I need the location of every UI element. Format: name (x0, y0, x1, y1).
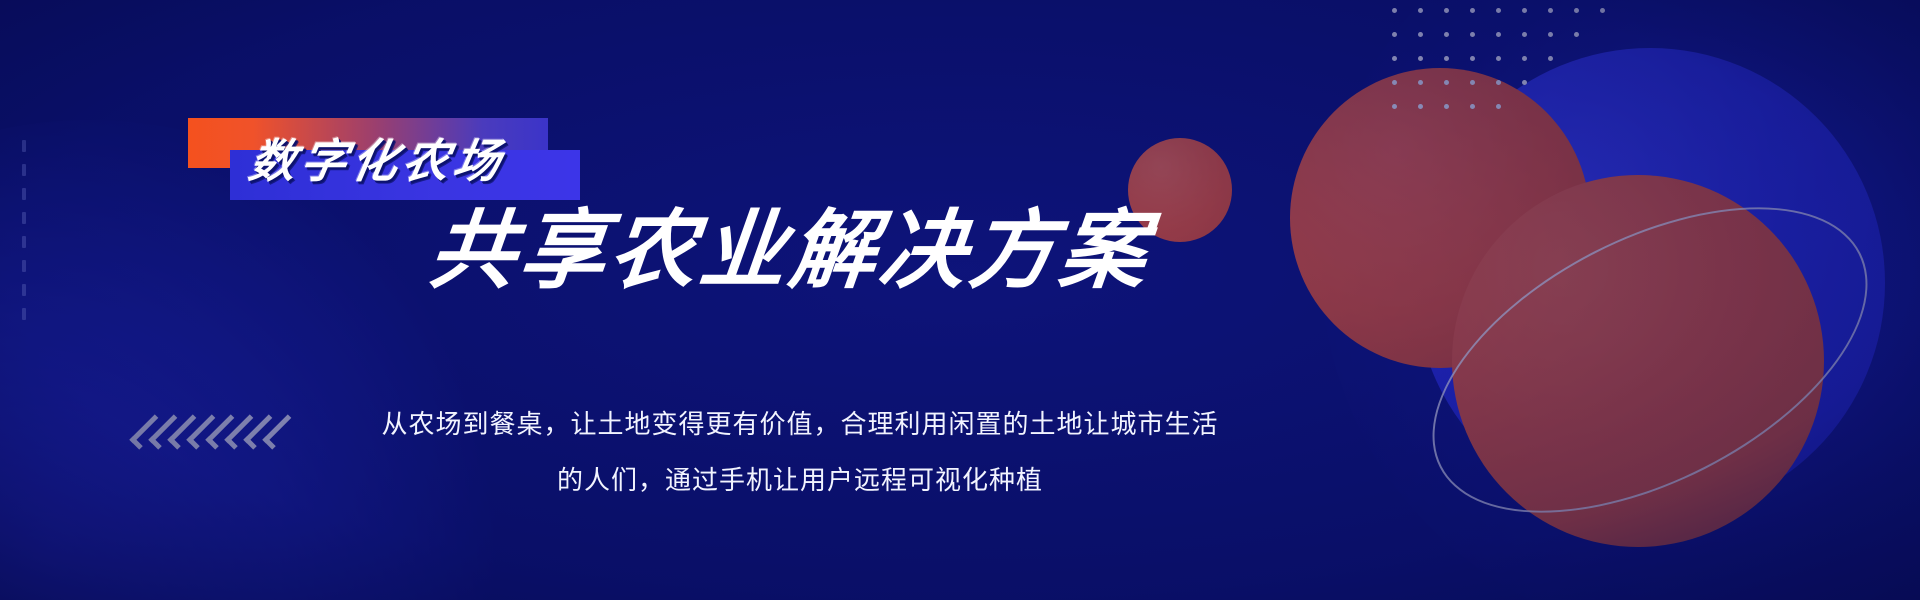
subtitle: 从农场到餐桌，让土地变得更有价值，合理利用闲置的土地让城市生活 的人们，通过手机… (300, 396, 1300, 508)
subtitle-line-1: 从农场到餐桌，让土地变得更有价值，合理利用闲置的土地让城市生活 (300, 396, 1300, 452)
banner-content: 数字化农场 共享农业解决方案 从农场到餐桌，让土地变得更有价值，合理利用闲置的土… (0, 0, 1920, 600)
promo-banner: 数字化农场 共享农业解决方案 从农场到餐桌，让土地变得更有价值，合理利用闲置的土… (0, 0, 1920, 600)
badge: 数字化农场 (188, 118, 580, 190)
page-title: 共享农业解决方案 (424, 196, 1196, 306)
badge-label: 数字化农场 (245, 132, 585, 190)
subtitle-line-2: 的人们，通过手机让用户远程可视化种植 (300, 452, 1300, 508)
